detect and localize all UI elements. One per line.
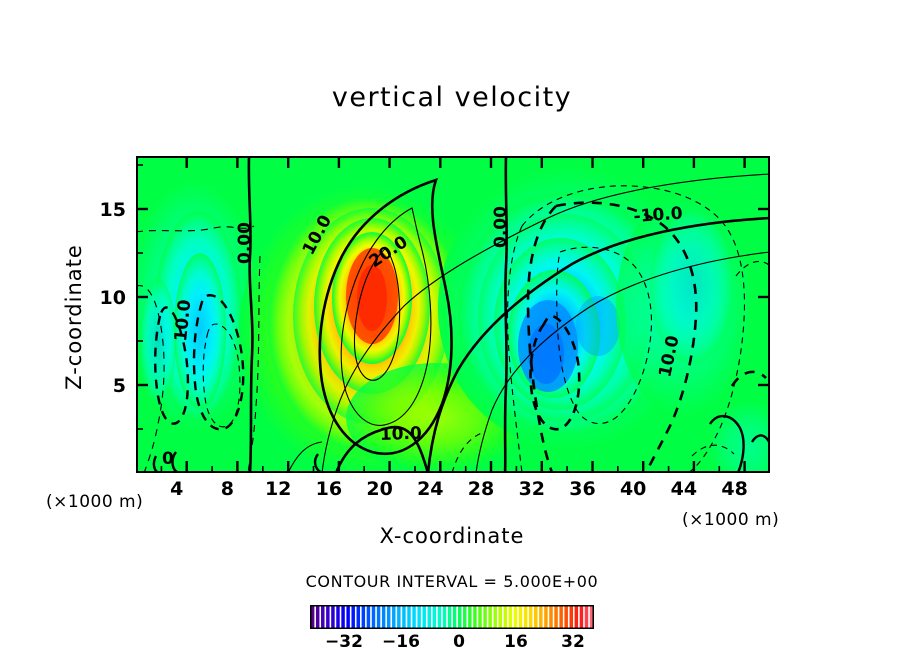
xtick-label-12: 12 [258,478,298,500]
x-units-left: (×1000 m) [46,492,143,512]
colorbar-bands [311,607,593,628]
xtick-label-20: 20 [360,478,400,500]
xtick-label-48: 48 [715,478,755,500]
contour-plot: 0.00 10.0 20.0 -10.0 10.0 0.00 10.0 10.0 [136,156,770,473]
figure-root: vertical velocity [0,0,904,654]
y-axis-label: Z-coordinate [62,217,86,417]
ytick-label-10: 10 [92,287,126,309]
xtick-label-36: 36 [563,478,603,500]
colorbar-tick-zero: 0 [437,632,481,652]
contour-label-zero-bottom: 0 [162,449,174,469]
contour-label-zero-left: 0.00 [235,222,255,264]
ytick-label-15: 15 [92,199,126,221]
contour-label-pos10-bottom: 10.0 [379,424,422,445]
xtick-label-24: 24 [410,478,450,500]
xtick-label-40: 40 [613,478,653,500]
contour-label-zero-right: 0.00 [491,206,511,248]
colorbar-tick-minus32: −32 [322,632,366,652]
x-units-right: (×1000 m) [682,510,779,530]
xtick-label-4: 4 [157,478,197,500]
xtick-label-8: 8 [207,478,247,500]
page-title: vertical velocity [0,82,904,113]
colorbar-tick-16: 16 [494,632,538,652]
xtick-label-28: 28 [461,478,501,500]
xtick-label-32: 32 [512,478,552,500]
ytick-label-5: 5 [92,375,126,397]
contour-interval-label: CONTOUR INTERVAL = 5.000E+00 [0,572,904,591]
colorbar-tick-32: 32 [551,632,595,652]
xtick-label-16: 16 [309,478,349,500]
contour-label-neg10: -10.0 [633,204,683,227]
xtick-label-44: 44 [664,478,704,500]
colorbar-tick-minus16: −16 [379,632,423,652]
colorbar [310,605,594,629]
